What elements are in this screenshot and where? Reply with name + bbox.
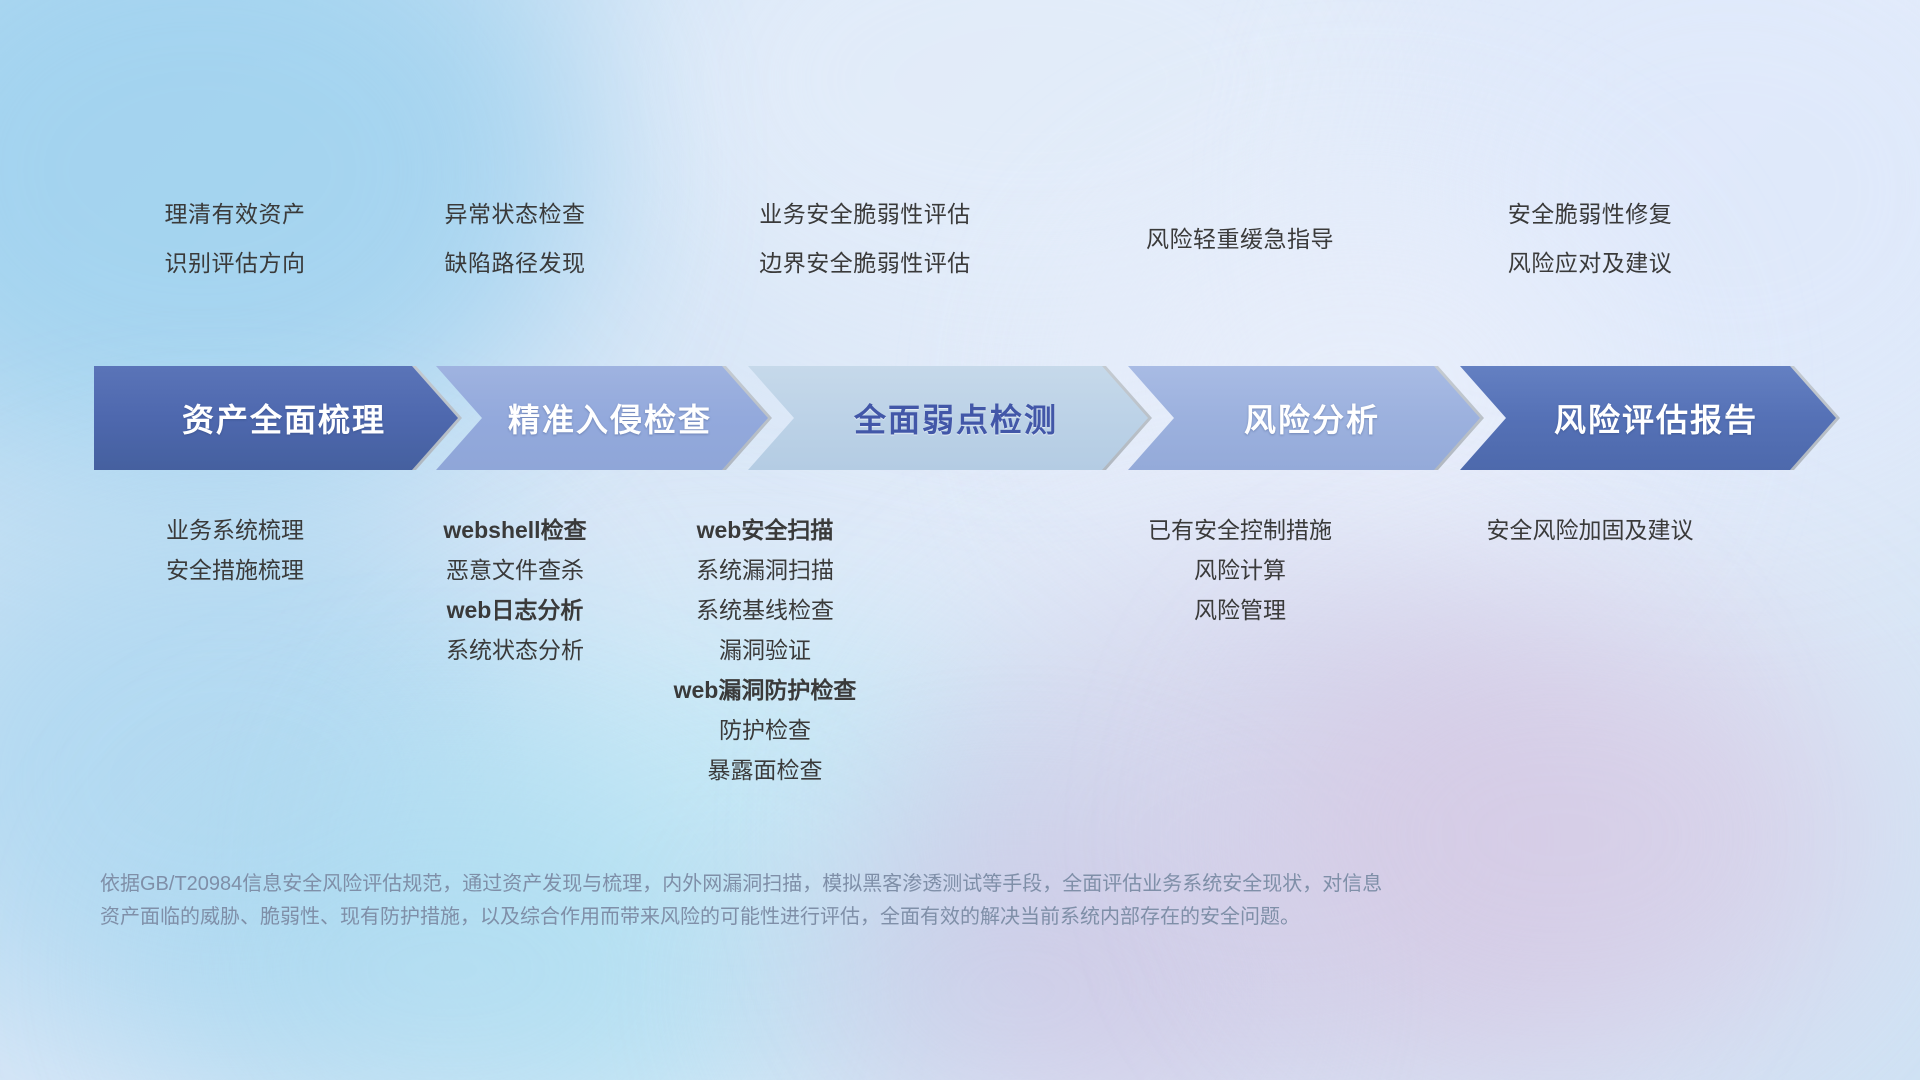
chevron-stage-5[interactable]: 风险评估报告	[1460, 366, 1836, 470]
top-labels-stage-5: 安全脆弱性修复 风险应对及建议	[1420, 190, 1760, 288]
list-item: web漏洞防护检查	[660, 670, 870, 710]
top-labels-stage-2: 异常状态检查 缺陷路径发现	[370, 190, 660, 288]
bottom-list-stage-5: 安全风险加固及建议	[1395, 510, 1785, 550]
list-item: 漏洞验证	[660, 630, 870, 670]
chevron-stage-4-label: 风险分析	[1128, 395, 1480, 441]
top-label: 异常状态检查	[370, 190, 660, 239]
chevron-stage-2-label: 精准入侵检查	[436, 395, 768, 441]
process-chevron-band: 资产全面梳理 精准入侵检查 全面弱点检测 风险分析 风险评估报告	[0, 366, 1920, 470]
bottom-list-stage-4: 已有安全控制措施 风险计算 风险管理	[1075, 510, 1405, 630]
top-labels-stage-3: 业务安全脆弱性评估 边界安全脆弱性评估	[700, 190, 1030, 288]
list-item: 恶意文件查杀	[370, 550, 660, 590]
chevron-stage-1[interactable]: 资产全面梳理	[94, 366, 458, 470]
top-label: 业务安全脆弱性评估	[700, 190, 1030, 239]
list-item: 系统漏洞扫描	[660, 550, 870, 590]
list-item: 风险管理	[1075, 590, 1405, 630]
list-item: web安全扫描	[660, 510, 870, 550]
list-item: 风险计算	[1075, 550, 1405, 590]
top-label: 缺陷路径发现	[370, 239, 660, 288]
bottom-list-stage-3: web安全扫描 系统漏洞扫描 系统基线检查 漏洞验证 web漏洞防护检查 防护检…	[660, 510, 870, 790]
chevron-stage-5-label: 风险评估报告	[1460, 395, 1836, 441]
list-item: 安全风险加固及建议	[1395, 510, 1785, 550]
list-item: 已有安全控制措施	[1075, 510, 1405, 550]
list-item: 防护检查	[660, 710, 870, 750]
top-labels-stage-4: 风险轻重缓急指导	[1075, 215, 1405, 264]
list-item: 系统基线检查	[660, 590, 870, 630]
list-item: 系统状态分析	[370, 630, 660, 670]
footer-line-2: 资产面临的威胁、脆弱性、现有防护措施，以及综合作用而带来风险的可能性进行评估，全…	[100, 901, 1660, 934]
chevron-stage-3[interactable]: 全面弱点检测	[748, 366, 1148, 470]
top-label: 边界安全脆弱性评估	[700, 239, 1030, 288]
list-item: webshell检查	[370, 510, 660, 550]
top-label: 安全脆弱性修复	[1420, 190, 1760, 239]
list-item: web日志分析	[370, 590, 660, 630]
footer-line-1: 依据GB/T20984信息安全风险评估规范，通过资产发现与梳理，内外网漏洞扫描，…	[100, 868, 1660, 901]
footer-description: 依据GB/T20984信息安全风险评估规范，通过资产发现与梳理，内外网漏洞扫描，…	[100, 868, 1660, 934]
top-label: 风险轻重缓急指导	[1075, 215, 1405, 264]
chevron-stage-4[interactable]: 风险分析	[1128, 366, 1480, 470]
chevron-stage-2[interactable]: 精准入侵检查	[436, 366, 768, 470]
top-label: 风险应对及建议	[1420, 239, 1760, 288]
chevron-stage-3-label: 全面弱点检测	[748, 395, 1148, 441]
list-item: 暴露面检查	[660, 750, 870, 790]
chevron-stage-1-label: 资产全面梳理	[94, 395, 458, 441]
bottom-list-stage-2: webshell检查 恶意文件查杀 web日志分析 系统状态分析	[370, 510, 660, 670]
